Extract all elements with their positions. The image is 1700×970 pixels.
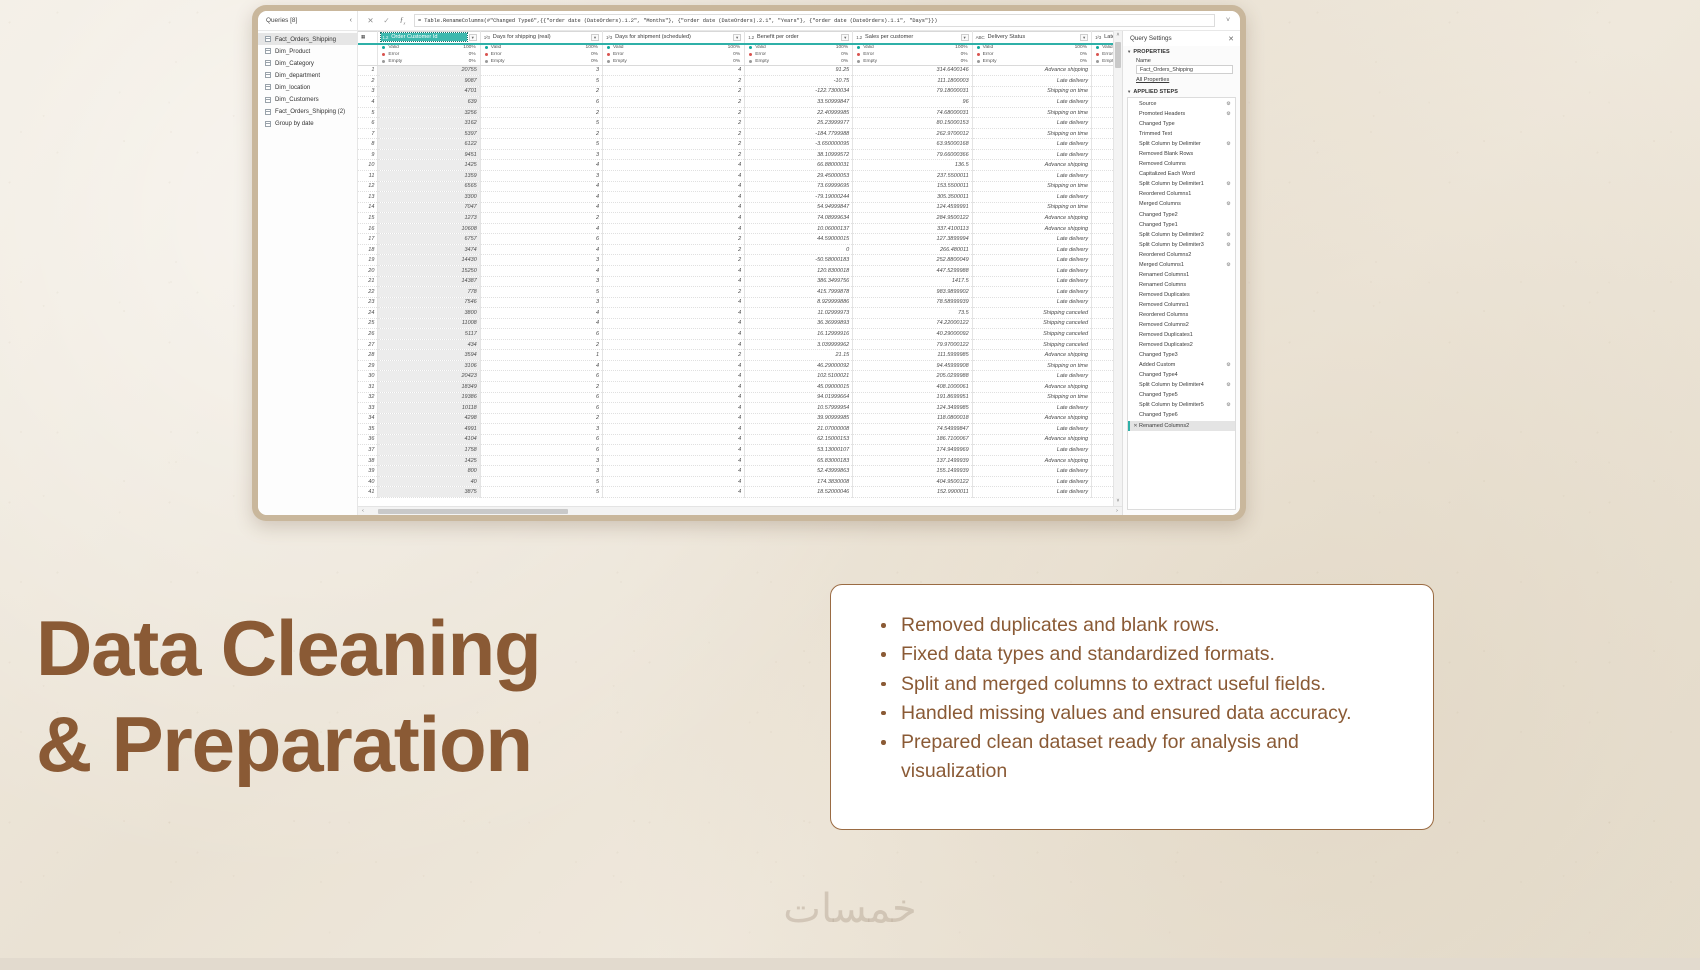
table-cell: 74.22000122	[853, 318, 972, 329]
table-row[interactable]: 4138755418.52000046152.9900011Late deliv…	[358, 487, 1113, 498]
table-cell: 4	[603, 329, 745, 340]
grid-column-header-label: Sales per customer	[865, 34, 959, 40]
table-cell: 1	[480, 350, 602, 361]
table-row[interactable]: 2438004411.0299997373.5Shipping canceled…	[358, 308, 1113, 319]
applied-step-item[interactable]: Split Column by Delimiter1⚙	[1128, 179, 1235, 189]
grid-vertical-scrollbar[interactable]: ˄ ˅	[1113, 31, 1122, 506]
table-cell: 25.23999977	[745, 118, 853, 129]
table-cell: 4	[603, 308, 745, 319]
query-list-item[interactable]: Fact_Orders_Shipping (2)	[258, 106, 357, 118]
row-number: 30	[358, 371, 378, 382]
column-quality-cell: Error0%	[1092, 51, 1113, 58]
applied-step-item[interactable]: Removed Columns1	[1128, 300, 1235, 310]
filter-dropdown-icon[interactable]: ▾	[961, 34, 969, 41]
fx-icon: ƒx	[398, 15, 407, 26]
applied-step-item[interactable]: Changed Type1	[1128, 220, 1235, 230]
table-cell: 5	[480, 118, 602, 129]
applied-step-item[interactable]: Merged Columns1⚙	[1128, 260, 1235, 270]
chevron-down-icon[interactable]: ˅	[1222, 17, 1234, 24]
row-number: 33	[358, 403, 378, 414]
quality-error-icon	[485, 53, 488, 56]
applied-step-item[interactable]: Changed Type2	[1128, 210, 1235, 220]
row-number: 34	[358, 413, 378, 424]
gear-icon[interactable]: ⚙	[1225, 382, 1232, 388]
grid-column-header-label: Days for shipping (real)	[493, 34, 589, 40]
quality-error-icon	[749, 53, 752, 56]
table-cell: 62.15000153	[745, 434, 853, 445]
table-cell: 266.480011	[853, 244, 972, 255]
query-list-item-label: Dim_location	[275, 84, 310, 91]
table-cell: 0	[1092, 86, 1113, 97]
row-number: 13	[358, 192, 378, 203]
table-cell: 5	[480, 476, 602, 487]
table-cell: Late delivery	[972, 265, 1091, 276]
table-cell: Shipping on time	[972, 360, 1091, 371]
table-cell: 237.5500011	[853, 171, 972, 182]
table-row[interactable]: 183474420266.480011Late delivery116	[358, 244, 1113, 255]
close-icon[interactable]: ✕	[1228, 35, 1234, 43]
applied-step-label: Split Column by Delimiter	[1139, 141, 1225, 147]
table-cell: Late delivery	[972, 287, 1091, 298]
power-query-top-bar: Queries [8] ‹ ✕ ✓ ƒx = Table.RenameColum…	[258, 11, 1240, 31]
gear-icon[interactable]: ⚙	[1225, 101, 1232, 107]
query-list-item[interactable]: Dim_department	[258, 69, 357, 81]
table-row[interactable]: 25110084436.3699989374.22000122Shipping …	[358, 318, 1113, 329]
table-cell: Shipping on time	[972, 86, 1091, 97]
table-row[interactable]: 2908752-10.75111.1800003Late delivery117	[358, 76, 1113, 87]
grid-column-header[interactable]: 1²3Late_delivery_risk▾	[1092, 32, 1113, 44]
applied-step-item[interactable]: Removed Duplicates1	[1128, 330, 1235, 340]
table-row[interactable]: 2835941221.15111.5999985Advance shipping…	[358, 350, 1113, 361]
gear-icon[interactable]: ⚙	[1225, 242, 1232, 248]
applied-step-item[interactable]: Renamed Columns	[1128, 280, 1235, 290]
applied-step-item[interactable]: Removed Blank Rows	[1128, 149, 1235, 159]
table-cell: 5	[480, 139, 602, 150]
table-cell: Late delivery	[972, 487, 1091, 498]
quality-percent: 0%	[469, 59, 476, 64]
table-cell: 33.50999847	[745, 97, 853, 108]
table-cell: 0	[1092, 65, 1113, 76]
applied-step-item[interactable]: Split Column by Delimiter5⚙	[1128, 400, 1235, 410]
table-cell: 94.45999908	[853, 360, 972, 371]
table-row[interactable]: 3641046462.15000153186.7100067Advance sh…	[358, 434, 1113, 445]
all-properties-link[interactable]: All Properties	[1123, 74, 1240, 86]
table-cell: 6122	[378, 139, 480, 150]
table-row[interactable]: 31183492445.09000015408.1000061Advance s…	[358, 381, 1113, 392]
table-icon	[265, 48, 271, 54]
table-row[interactable]: 237546348.92999988678.58999939Late deliv…	[358, 297, 1113, 308]
query-list-item-label: Fact_Orders_Shipping (2)	[275, 108, 345, 115]
chevron-right-icon[interactable]: ›	[1112, 508, 1122, 514]
table-cell: 0	[1092, 455, 1113, 466]
gear-icon[interactable]: ⚙	[1225, 262, 1232, 268]
filter-dropdown-icon[interactable]: ▾	[1080, 34, 1088, 41]
grid-column-header[interactable]: 1²3Days for shipping (real)▾	[480, 32, 602, 44]
table-cell: 124.3499985	[853, 403, 972, 414]
applied-step-item[interactable]: Removed Duplicates2	[1128, 340, 1235, 350]
table-cell: 0	[1092, 339, 1113, 350]
vscroll-thumb[interactable]	[1115, 42, 1121, 68]
column-type-icon: 1.2	[748, 35, 754, 40]
table-cell: 186.7100067	[853, 434, 972, 445]
quality-empty-icon	[382, 60, 385, 63]
table-row[interactable]: 201525044120.8300018447.5299988Late deli…	[358, 265, 1113, 276]
table-cell: 3	[480, 297, 602, 308]
applied-step-item[interactable]: Reordered Columns2	[1128, 250, 1235, 260]
grid-column-header[interactable]: ABCDelivery Status▾	[972, 32, 1091, 44]
grid-column-header-label: Late_delivery_risk	[1104, 34, 1113, 40]
column-quality-cell: Error0%	[603, 51, 745, 58]
row-number: 24	[358, 308, 378, 319]
table-cell: Advance shipping	[972, 160, 1091, 171]
table-row[interactable]: 1512732474.08999634284.9500122Advance sh…	[358, 213, 1113, 224]
applied-step-item[interactable]: Removed Columns2	[1128, 320, 1235, 330]
applied-step-item[interactable]: Changed Type5	[1128, 390, 1235, 400]
applied-step-label: Removed Columns1	[1139, 302, 1225, 308]
query-list-item[interactable]: Dim_Category	[258, 57, 357, 69]
query-list-item-label: Dim_Product	[275, 48, 310, 55]
table-row[interactable]: 27434243.03999996279.97000122Shipping ca…	[358, 339, 1113, 350]
applied-step-item[interactable]: Capitalized Each Word	[1128, 169, 1235, 179]
quality-label: Valid	[388, 45, 463, 50]
delete-step-icon[interactable]: ✕	[1132, 423, 1139, 429]
grid-horizontal-scrollbar[interactable]: ‹ ›	[358, 506, 1122, 515]
data-grid-viewport[interactable]: ▦1.2Order Customer Id▾1²3Days for shippi…	[358, 31, 1113, 506]
table-cell: Late delivery	[972, 76, 1091, 87]
grid-column-header[interactable]: 1.2Benefit per order▾	[745, 32, 853, 44]
table-icon	[265, 72, 271, 78]
table-cell: 191.8699951	[853, 392, 972, 403]
table-cell: 74.68000031	[853, 107, 972, 118]
check-icon[interactable]: ✓	[382, 16, 391, 25]
applied-step-item[interactable]: Removed Columns	[1128, 159, 1235, 169]
table-cell: -122.7300034	[745, 86, 853, 97]
table-cell: 0	[1092, 318, 1113, 329]
table-row[interactable]: 46396233.5099984796Late delivery134	[358, 97, 1113, 108]
table-cell: 3	[480, 424, 602, 435]
applied-step-item[interactable]: Changed Type	[1128, 119, 1235, 129]
table-row[interactable]: 532562222.4099998574.68000031Shipping on…	[358, 107, 1113, 118]
table-cell: 408.1000061	[853, 381, 972, 392]
table-cell: 52.43999863	[745, 466, 853, 477]
filter-dropdown-icon[interactable]: ▾	[591, 34, 599, 41]
applied-step-item[interactable]: Promoted Headers⚙	[1128, 109, 1235, 119]
applied-step-label: Merged Columns	[1139, 201, 1225, 207]
chevron-down-icon: ▾	[1128, 89, 1130, 95]
applied-step-item[interactable]: ✕Renamed Columns2	[1128, 421, 1235, 431]
chevron-left-icon[interactable]: ‹	[358, 508, 368, 514]
gear-icon[interactable]: ⚙	[1225, 232, 1232, 238]
applied-step-item[interactable]: Split Column by Delimiter4⚙	[1128, 380, 1235, 390]
page-title-line1: Data Cleaning	[36, 600, 736, 696]
query-list-item[interactable]: Dim_Product	[258, 45, 357, 57]
table-cell: 54.94999847	[745, 202, 853, 213]
column-quality-cell: Valid100%	[1092, 44, 1113, 51]
table-cell: Late delivery	[972, 403, 1091, 414]
table-cell: 2	[603, 234, 745, 245]
table-row[interactable]: 1265654473.69999695153.5500011Shipping o…	[358, 181, 1113, 192]
table-cell: 18349	[378, 381, 480, 392]
table-cell: 14430	[378, 255, 480, 266]
table-row[interactable]: 404054174.3830008404.9500122Late deliver…	[358, 476, 1113, 487]
table-cell: 73.69999695	[745, 181, 853, 192]
applied-step-item[interactable]: Reordered Columns	[1128, 310, 1235, 320]
quality-valid-icon	[1096, 46, 1099, 49]
gear-icon[interactable]: ⚙	[1225, 111, 1232, 117]
table-cell: 79.97000122	[853, 339, 972, 350]
table-cell: 3106	[378, 360, 480, 371]
grid-header-row: ▦1.2Order Customer Id▾1²3Days for shippi…	[358, 32, 1113, 44]
table-row[interactable]: 8612252-3.65000009563.95000168Late deliv…	[358, 139, 1113, 150]
row-number: 11	[358, 171, 378, 182]
grid-column-header-label: Benefit per order	[757, 34, 839, 40]
table-cell: 639	[378, 97, 480, 108]
query-list-item[interactable]: Dim_location	[258, 81, 357, 93]
table-cell: 73.5	[853, 308, 972, 319]
applied-step-item[interactable]: Added Custom⚙	[1128, 360, 1235, 370]
chevron-up-icon[interactable]: ˄	[1117, 31, 1120, 40]
table-row[interactable]: 994513238.1099957279.66000366Late delive…	[358, 149, 1113, 160]
table-corner-icon[interactable]: ▦	[358, 32, 378, 44]
column-quality-cell: Empty0%	[972, 58, 1091, 65]
applied-step-item[interactable]: Removed Duplicates	[1128, 290, 1235, 300]
table-cell: 1	[1092, 149, 1113, 160]
quality-percent: 0%	[1080, 52, 1087, 57]
table-cell: 3	[480, 255, 602, 266]
table-cell: 0	[1092, 202, 1113, 213]
query-list-item[interactable]: Group by date	[258, 118, 357, 130]
table-cell: 1	[1092, 424, 1113, 435]
table-cell: 4	[603, 171, 745, 182]
table-row[interactable]: 3549913421.0700000874.54999847Late deliv…	[358, 424, 1113, 435]
table-cell: 3800	[378, 308, 480, 319]
quality-label: Error	[613, 52, 733, 57]
applied-step-label: Changed Type5	[1139, 392, 1225, 398]
table-cell: 3	[480, 149, 602, 160]
table-row[interactable]: 191443032-50.58000183252.8800049Late del…	[358, 255, 1113, 266]
table-row[interactable]: 7539722-184.7799988262.9700012Shipping o…	[358, 128, 1113, 139]
table-cell: 2	[603, 350, 745, 361]
query-settings-pane: Query Settings ✕ ▾ PROPERTIES Name Fact_…	[1122, 31, 1240, 515]
table-cell: 10608	[378, 223, 480, 234]
applied-steps-section-header[interactable]: ▾ APPLIED STEPS	[1123, 86, 1240, 96]
applied-step-label: Reordered Columns	[1139, 312, 1225, 318]
applied-step-label: Removed Blank Rows	[1139, 151, 1225, 157]
column-type-icon: 1.2	[856, 35, 862, 40]
column-quality-cell: Empty0%	[480, 58, 602, 65]
table-cell: 4	[480, 318, 602, 329]
table-cell: 10.57999954	[745, 403, 853, 414]
applied-step-label: Split Column by Delimiter4	[1139, 382, 1225, 388]
filter-dropdown-icon[interactable]: ▾	[733, 34, 741, 41]
table-cell: 4	[603, 445, 745, 456]
formula-input[interactable]: = Table.RenameColumns(#"Changed Type6",{…	[414, 14, 1215, 27]
hscroll-track[interactable]	[368, 507, 1112, 515]
row-number: 6	[358, 118, 378, 129]
quality-empty-icon	[607, 60, 610, 63]
applied-step-item[interactable]: Source⚙	[1128, 99, 1235, 109]
table-cell: 18.52000046	[745, 487, 853, 498]
properties-section-header[interactable]: ▾ PROPERTIES	[1123, 46, 1240, 56]
table-row[interactable]: 16106084410.06000137337.4100113Advance s…	[358, 223, 1113, 234]
query-list-item[interactable]: Dim_Customers	[258, 93, 357, 105]
table-cell: 4	[603, 192, 745, 203]
table-row[interactable]: 2277852415.7999878983.9899902Late delive…	[358, 287, 1113, 298]
gear-icon[interactable]: ⚙	[1225, 181, 1232, 187]
table-row[interactable]: 1014254466.88000031136.5Advance shipping…	[358, 160, 1113, 171]
applied-step-item[interactable]: Merged Columns⚙	[1128, 199, 1235, 209]
table-cell: 4	[480, 265, 602, 276]
table-cell: 4298	[378, 413, 480, 424]
table-cell: 6	[480, 97, 602, 108]
quality-percent: 100%	[728, 45, 741, 50]
row-number: 17	[358, 234, 378, 245]
quality-label: Valid	[755, 45, 836, 50]
table-row[interactable]: 33101186410.57999954124.3499985Late deli…	[358, 403, 1113, 414]
row-number: 8	[358, 139, 378, 150]
applied-step-label: Renamed Columns	[1139, 282, 1225, 288]
table-cell: -184.7799988	[745, 128, 853, 139]
table-cell: 0	[1092, 413, 1113, 424]
close-icon[interactable]: ✕	[366, 16, 375, 25]
grid-column-header[interactable]: 1²3Days for shipment (scheduled)▾	[603, 32, 745, 44]
table-cell: 2	[480, 107, 602, 118]
applied-step-item[interactable]: Trimmed Text	[1128, 129, 1235, 139]
row-number: 31	[358, 381, 378, 392]
table-row[interactable]: 631625225.2399997780.15000153Late delive…	[358, 118, 1113, 129]
table-cell: 1758	[378, 445, 480, 456]
table-row[interactable]: 211438734386.34997561417.5Late delivery1…	[358, 276, 1113, 287]
table-cell: Advance shipping	[972, 213, 1091, 224]
applied-step-item[interactable]: Reordered Columns1	[1128, 189, 1235, 199]
table-cell: 4	[480, 202, 602, 213]
table-cell: 29.45000053	[745, 171, 853, 182]
table-cell: 11.02999973	[745, 308, 853, 319]
filter-dropdown-icon[interactable]: ▾	[841, 34, 849, 41]
table-row[interactable]: 3814253465.83000183137.1499939Advance sh…	[358, 455, 1113, 466]
applied-step-label: Split Column by Delimiter3	[1139, 242, 1225, 248]
applied-step-item[interactable]: Changed Type6	[1128, 410, 1235, 420]
grid-column-header[interactable]: 1.2Order Customer Id▾	[378, 32, 480, 44]
table-cell: 79.66000366	[853, 149, 972, 160]
hscroll-thumb[interactable]	[378, 509, 568, 514]
table-cell: Late delivery	[972, 466, 1091, 477]
table-row[interactable]: 2931064446.2900009294.45999908Shipping o…	[358, 360, 1113, 371]
table-cell: 4	[603, 487, 745, 498]
vscroll-track[interactable]	[1114, 40, 1122, 497]
column-quality-cell: Valid100%	[378, 44, 480, 51]
table-cell: 111.5999985	[853, 350, 972, 361]
table-row[interactable]: 302042364102.5100021205.0299988Late deli…	[358, 371, 1113, 382]
column-type-icon: 1.2	[382, 35, 388, 40]
gear-icon[interactable]: ⚙	[1225, 141, 1232, 147]
gear-icon[interactable]: ⚙	[1225, 201, 1232, 207]
list-item: Split and merged columns to extract usef…	[875, 670, 1403, 699]
table-cell: 4	[603, 65, 745, 76]
applied-step-label: Changed Type6	[1139, 412, 1225, 418]
table-cell: 153.5500011	[853, 181, 972, 192]
table-cell: 415.7999878	[745, 287, 853, 298]
applied-step-item[interactable]: Split Column by Delimiter3⚙	[1128, 240, 1235, 250]
query-list-item[interactable]: Fact_Orders_Shipping	[258, 33, 357, 45]
column-quality-cell: Error0%	[480, 51, 602, 58]
table-row[interactable]: 1767576244.59000015127.3899994Late deliv…	[358, 234, 1113, 245]
quality-valid-icon	[977, 46, 980, 49]
table-cell: 3300	[378, 192, 480, 203]
table-cell: 3474	[378, 244, 480, 255]
applied-step-item[interactable]: Split Column by Delimiter⚙	[1128, 139, 1235, 149]
quality-label: Empty	[1102, 59, 1113, 64]
table-cell: 4	[480, 223, 602, 234]
applied-step-label: Split Column by Delimiter1	[1139, 181, 1225, 187]
applied-step-item[interactable]: Split Column by Delimiter2⚙	[1128, 230, 1235, 240]
table-cell: 2	[480, 86, 602, 97]
table-cell: Shipping canceled	[972, 308, 1091, 319]
table-cell: 2	[480, 213, 602, 224]
table-row[interactable]: 13330044-79.19000244305.3500011Late deli…	[358, 192, 1113, 203]
table-cell: 94.01999664	[745, 392, 853, 403]
grid-column-header[interactable]: 1.2Sales per customer▾	[853, 32, 972, 44]
table-cell: 14387	[378, 276, 480, 287]
table-row[interactable]: 2651176416.1299991640.29000092Shipping c…	[358, 329, 1113, 340]
quality-valid-icon	[382, 46, 385, 49]
applied-step-label: Renamed Columns2	[1139, 423, 1225, 429]
row-number: 7	[358, 128, 378, 139]
table-cell: 80.15000153	[853, 118, 972, 129]
table-row[interactable]: 398003452.43999863155.1499939Late delive…	[358, 466, 1113, 477]
column-quality-cell: Error0%	[745, 51, 853, 58]
query-name-input[interactable]: Fact_Orders_Shipping	[1136, 65, 1233, 74]
table-row[interactable]: 1113593429.45000053237.5500011Late deliv…	[358, 171, 1113, 182]
table-cell: 63.95000168	[853, 139, 972, 150]
table-cell: 2	[603, 118, 745, 129]
table-row[interactable]: 3717586453.13000107174.9499969Late deliv…	[358, 445, 1113, 456]
table-cell: 2	[603, 76, 745, 87]
applied-step-label: Removed Columns	[1139, 161, 1225, 167]
applied-step-label: Capitalized Each Word	[1139, 171, 1225, 177]
row-number: 18	[358, 244, 378, 255]
table-cell: 3	[480, 171, 602, 182]
table-cell: 1425	[378, 455, 480, 466]
applied-step-label: Promoted Headers	[1139, 111, 1225, 117]
table-row[interactable]: 3442982439.90999985118.0800018Advance sh…	[358, 413, 1113, 424]
row-number: 10	[358, 160, 378, 171]
query-list-item-label: Fact_Orders_Shipping	[275, 36, 336, 43]
table-row[interactable]: 32193866494.01999664191.8699951Shipping …	[358, 392, 1113, 403]
table-row[interactable]: 1470474454.94999847124.4599991Shipping o…	[358, 202, 1113, 213]
table-cell: 2	[480, 413, 602, 424]
gear-icon[interactable]: ⚙	[1225, 362, 1232, 368]
applied-step-item[interactable]: Changed Type3	[1128, 350, 1235, 360]
table-cell: 65.83000183	[745, 455, 853, 466]
table-row[interactable]: 1207553491.25314.6400146Advance shipping…	[358, 65, 1113, 76]
chevron-left-icon[interactable]: ‹	[350, 17, 352, 24]
row-number: 5	[358, 107, 378, 118]
table-row[interactable]: 3470122-122.730003479.18000031Shipping o…	[358, 86, 1113, 97]
table-cell: 262.9700012	[853, 128, 972, 139]
gear-icon[interactable]: ⚙	[1225, 402, 1232, 408]
quality-label: Valid	[863, 45, 955, 50]
applied-step-item[interactable]: Renamed Columns1	[1128, 270, 1235, 280]
quality-percent: 0%	[591, 52, 598, 57]
chevron-down-icon[interactable]: ˅	[1117, 497, 1120, 506]
applied-step-item[interactable]: Changed Type4	[1128, 370, 1235, 380]
row-number: 2	[358, 76, 378, 87]
bullet-dot-icon	[881, 711, 886, 716]
filter-dropdown-icon[interactable]: ▾	[469, 34, 477, 41]
table-cell: 3162	[378, 118, 480, 129]
table-cell: 1	[1092, 297, 1113, 308]
